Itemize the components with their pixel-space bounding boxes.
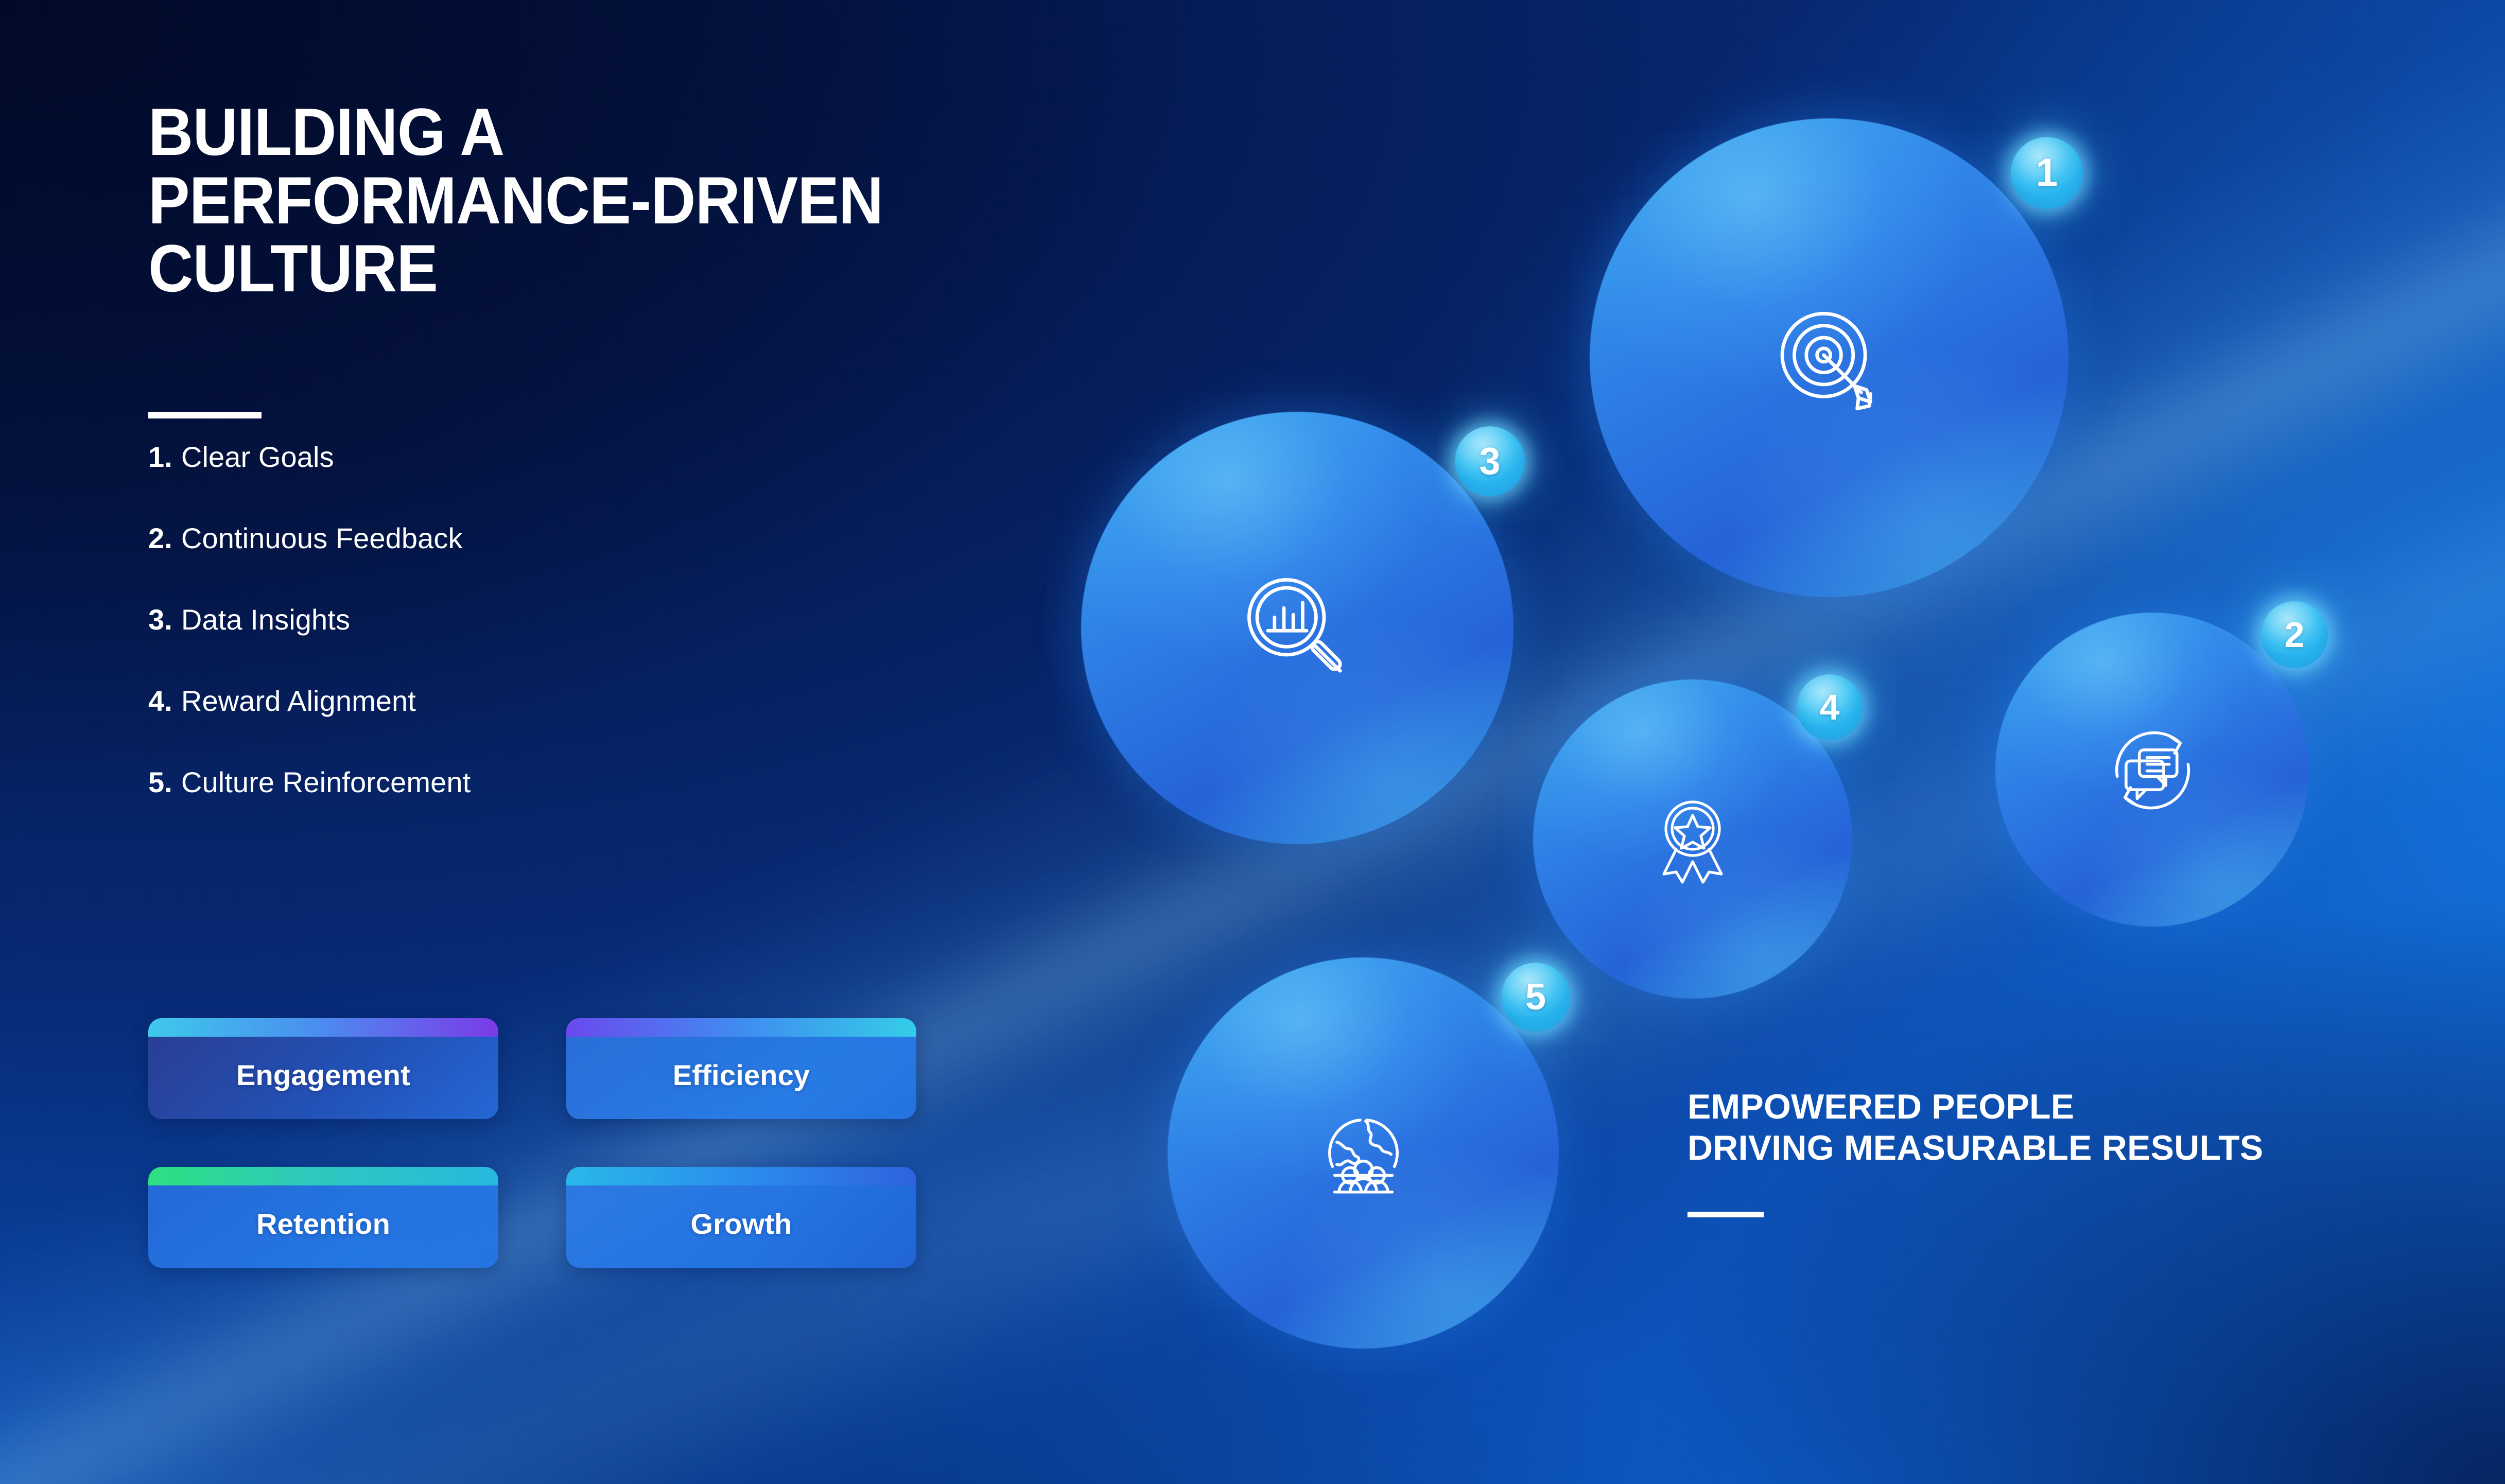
list-item[interactable]: 2. Continuous Feedback xyxy=(148,524,869,553)
tag-card-label: Engagement xyxy=(236,1046,410,1092)
step-number: 5. xyxy=(148,768,172,797)
title-divider-rule xyxy=(148,412,262,418)
step-bubble-1[interactable]: 1 xyxy=(1590,118,2068,597)
steps-list: 1. Clear Goals 2. Continuous Feedback 3.… xyxy=(148,443,869,849)
step-label: Clear Goals xyxy=(181,443,334,472)
tag-card-label: Retention xyxy=(256,1195,390,1241)
tag-card-retention[interactable]: Retention xyxy=(148,1167,498,1268)
tag-card-accent-bar xyxy=(566,1018,916,1037)
page-title: BUILDING A PERFORMANCE-DRIVEN CULTURE xyxy=(148,98,991,303)
status-badge: 2 xyxy=(2261,601,2328,668)
globe-team-icon xyxy=(1308,1098,1419,1209)
metric-tag-grid: Engagement Efficiency Retention Growth xyxy=(148,1018,926,1268)
tag-card-accent-bar xyxy=(148,1167,498,1185)
page-title-line-2: CULTURE xyxy=(148,234,991,303)
step-label: Continuous Feedback xyxy=(181,524,463,553)
magnifier-bar-chart-icon xyxy=(1230,561,1364,695)
step-bubble-4[interactable]: 4 xyxy=(1533,679,1852,999)
tag-card-label: Efficiency xyxy=(673,1046,810,1092)
list-item[interactable]: 1. Clear Goals xyxy=(148,443,869,472)
step-label: Culture Reinforcement xyxy=(181,768,471,797)
page-title-line-1: BUILDING A PERFORMANCE-DRIVEN xyxy=(148,98,991,234)
step-number: 1. xyxy=(148,443,172,472)
slide-canvas: BUILDING A PERFORMANCE-DRIVEN CULTURE 1.… xyxy=(0,0,2505,1484)
bubble-number: 3 xyxy=(1479,442,1500,480)
target-arrow-icon xyxy=(1762,291,1896,425)
list-item[interactable]: 3. Data Insights xyxy=(148,605,869,634)
tagline-line-1: EMPOWERED PEOPLE xyxy=(1688,1086,2470,1127)
bubble-number: 5 xyxy=(1525,979,1546,1016)
tag-card-accent-bar xyxy=(566,1167,916,1185)
bubble-number: 1 xyxy=(2036,153,2058,193)
tag-card-label: Growth xyxy=(690,1195,792,1241)
step-label: Reward Alignment xyxy=(181,687,416,715)
bubble-number: 4 xyxy=(1820,689,1840,725)
step-number: 3. xyxy=(148,605,172,634)
tag-card-growth[interactable]: Growth xyxy=(566,1167,916,1268)
step-label: Data Insights xyxy=(181,605,350,634)
left-content-column: BUILDING A PERFORMANCE-DRIVEN CULTURE 1.… xyxy=(148,0,1178,1484)
step-number: 2. xyxy=(148,524,172,553)
tagline-divider-rule xyxy=(1688,1212,1764,1217)
feedback-loop-chat-icon xyxy=(2097,714,2208,825)
bubble-number: 2 xyxy=(2285,617,2305,653)
step-number: 4. xyxy=(148,687,172,715)
status-badge: 3 xyxy=(1455,426,1525,496)
tag-card-engagement[interactable]: Engagement xyxy=(148,1018,498,1119)
list-item[interactable]: 4. Reward Alignment xyxy=(148,687,869,715)
step-bubble-3[interactable]: 3 xyxy=(1081,412,1514,844)
tag-card-accent-bar xyxy=(148,1018,498,1037)
award-ribbon-star-icon xyxy=(1641,788,1744,891)
tagline-block: EMPOWERED PEOPLE DRIVING MEASURABLE RESU… xyxy=(1688,1086,2470,1168)
status-badge: 5 xyxy=(1501,963,1570,1032)
step-bubble-5[interactable]: 5 xyxy=(1168,957,1559,1349)
list-item[interactable]: 5. Culture Reinforcement xyxy=(148,768,869,797)
tagline-line-2: DRIVING MEASURABLE RESULTS xyxy=(1688,1127,2470,1168)
status-badge: 1 xyxy=(2011,137,2083,209)
tag-card-efficiency[interactable]: Efficiency xyxy=(566,1018,916,1119)
status-badge: 4 xyxy=(1797,674,1863,740)
step-bubble-2[interactable]: 2 xyxy=(1995,613,2309,927)
